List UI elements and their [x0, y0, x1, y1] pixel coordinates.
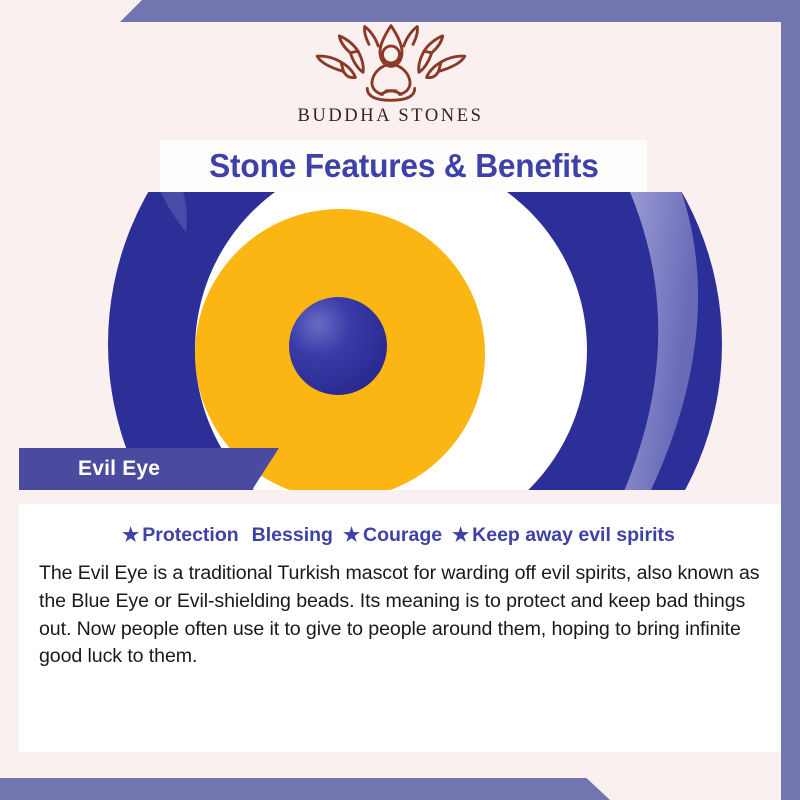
frame-band-right: [781, 0, 800, 800]
benefit-item-keep-away-evil-spirits: Keep away evil spirits: [472, 524, 675, 547]
brand-name: BUDDHA STONES: [297, 106, 483, 127]
stone-name-label: Evil Eye: [78, 457, 160, 481]
star-icon: ★: [343, 526, 360, 545]
page-title: Stone Features & Benefits: [209, 147, 599, 185]
benefits-list: ★ Protection Blessing ★ Courage ★ Keep a…: [33, 524, 767, 547]
content-panel: ★ Protection Blessing ★ Courage ★ Keep a…: [19, 504, 781, 752]
title-banner: Stone Features & Benefits: [160, 140, 647, 192]
brand-logo: BUDDHA STONES: [0, 24, 781, 127]
evil-eye-graphic: [0, 192, 781, 490]
benefit-item-blessing: Blessing: [252, 524, 333, 547]
stone-description: The Evil Eye is a traditional Turkish ma…: [33, 560, 767, 671]
frame-band-top: [0, 0, 800, 22]
benefit-item-courage: Courage: [363, 524, 442, 547]
benefit-item-protection: Protection: [142, 524, 238, 547]
lotus-meditation-figure-icon: [306, 24, 476, 102]
star-icon: ★: [452, 526, 469, 545]
stone-name-ribbon: Evil Eye: [19, 448, 279, 490]
star-icon: ★: [122, 526, 139, 545]
hero-image-evil-eye: [0, 192, 781, 490]
